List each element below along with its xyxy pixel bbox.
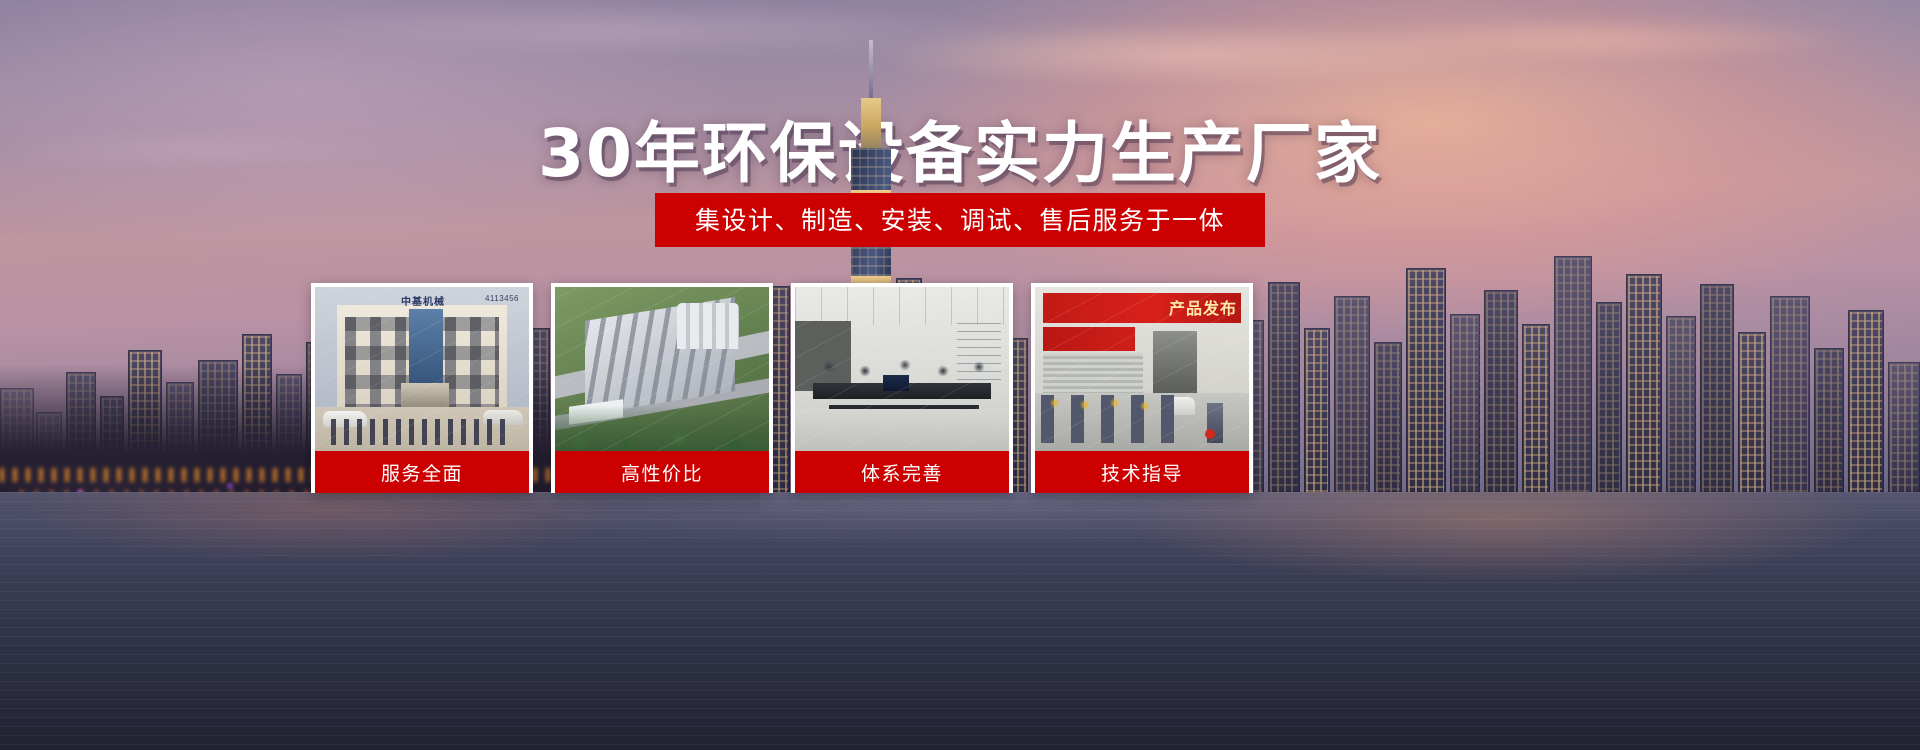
- workshop-workers-photo: 产品发布: [1035, 287, 1249, 451]
- river-water: [0, 492, 1920, 750]
- hero-banner: 30年环保设备实力生产厂家 集设计、制造、安装、调试、售后服务于一体 中基机械 …: [0, 0, 1920, 750]
- subtitle-container: 集设计、制造、安装、调试、售后服务于一体: [0, 193, 1920, 247]
- feature-card[interactable]: 中基机械 4113456 服务全面: [311, 283, 533, 493]
- feature-card-list: 中基机械 4113456 服务全面: [311, 283, 1253, 493]
- tower-crown: [861, 98, 881, 154]
- office-interior-photo: [795, 287, 1009, 451]
- feature-card[interactable]: 体系完善: [791, 283, 1013, 493]
- page-title: 30年环保设备实力生产厂家: [0, 100, 1920, 196]
- workshop-banner-text: 产品发布: [1169, 295, 1237, 319]
- tower-spire: [869, 40, 873, 104]
- subtitle-badge: 集设计、制造、安装、调试、售后服务于一体: [655, 193, 1265, 247]
- feature-card-label: 服务全面: [315, 451, 529, 493]
- company-building-photo: 中基机械 4113456: [315, 287, 529, 451]
- feature-card[interactable]: 产品发布 技术指导: [1031, 283, 1253, 493]
- feature-card-label: 体系完善: [795, 451, 1009, 493]
- feature-card-label: 技术指导: [1035, 451, 1249, 493]
- feature-card-label: 高性价比: [555, 451, 769, 493]
- building-phone-number: 4113456: [485, 294, 519, 303]
- feature-card[interactable]: 高性价比: [551, 283, 773, 493]
- aerial-factory-photo: [555, 287, 769, 451]
- building-sign-text: 中基机械: [381, 293, 465, 307]
- water-ripples: [0, 492, 1920, 750]
